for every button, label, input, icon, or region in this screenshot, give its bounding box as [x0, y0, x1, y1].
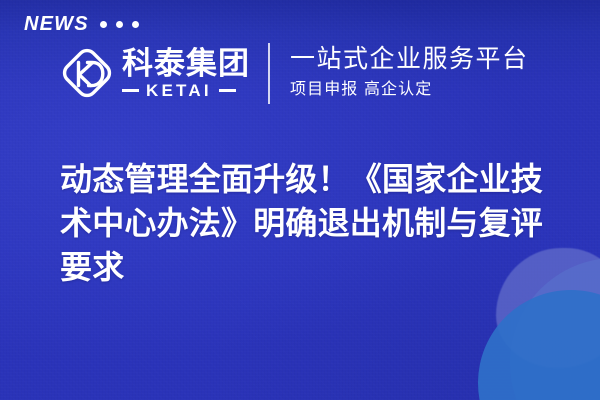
tagline-block: 一站式企业服务平台 项目申报 高企认定 — [290, 45, 529, 100]
dot-icon — [116, 21, 123, 28]
brand-name-cn: 科泰集团 — [122, 47, 250, 80]
brand-wordmark: 科泰集团 KETAI — [122, 47, 250, 98]
brand-row: 科泰集团 KETAI 一站式企业服务平台 项目申报 高企认定 — [56, 42, 529, 104]
eyebrow-dots — [100, 21, 139, 28]
dot-icon — [100, 21, 107, 28]
ketai-logo-icon — [56, 42, 118, 104]
tagline-main: 一站式企业服务平台 — [290, 45, 529, 75]
rule-right — [219, 89, 236, 92]
brand-name-en: KETAI — [146, 82, 212, 99]
rule-left — [122, 89, 139, 92]
eyebrow-label: NEWS — [24, 14, 89, 34]
eyebrow: NEWS — [24, 14, 139, 34]
dot-icon — [132, 21, 139, 28]
tagline-sub: 项目申报 高企认定 — [290, 79, 529, 101]
headline-text: 动态管理全面升级！《国家企业技术中心办法》明确退出机制与复评要求 — [60, 157, 572, 289]
brand-divider — [268, 43, 270, 104]
news-banner: NEWS 科泰集团 KETAI — [0, 0, 600, 400]
brand-name-en-row: KETAI — [122, 82, 250, 99]
